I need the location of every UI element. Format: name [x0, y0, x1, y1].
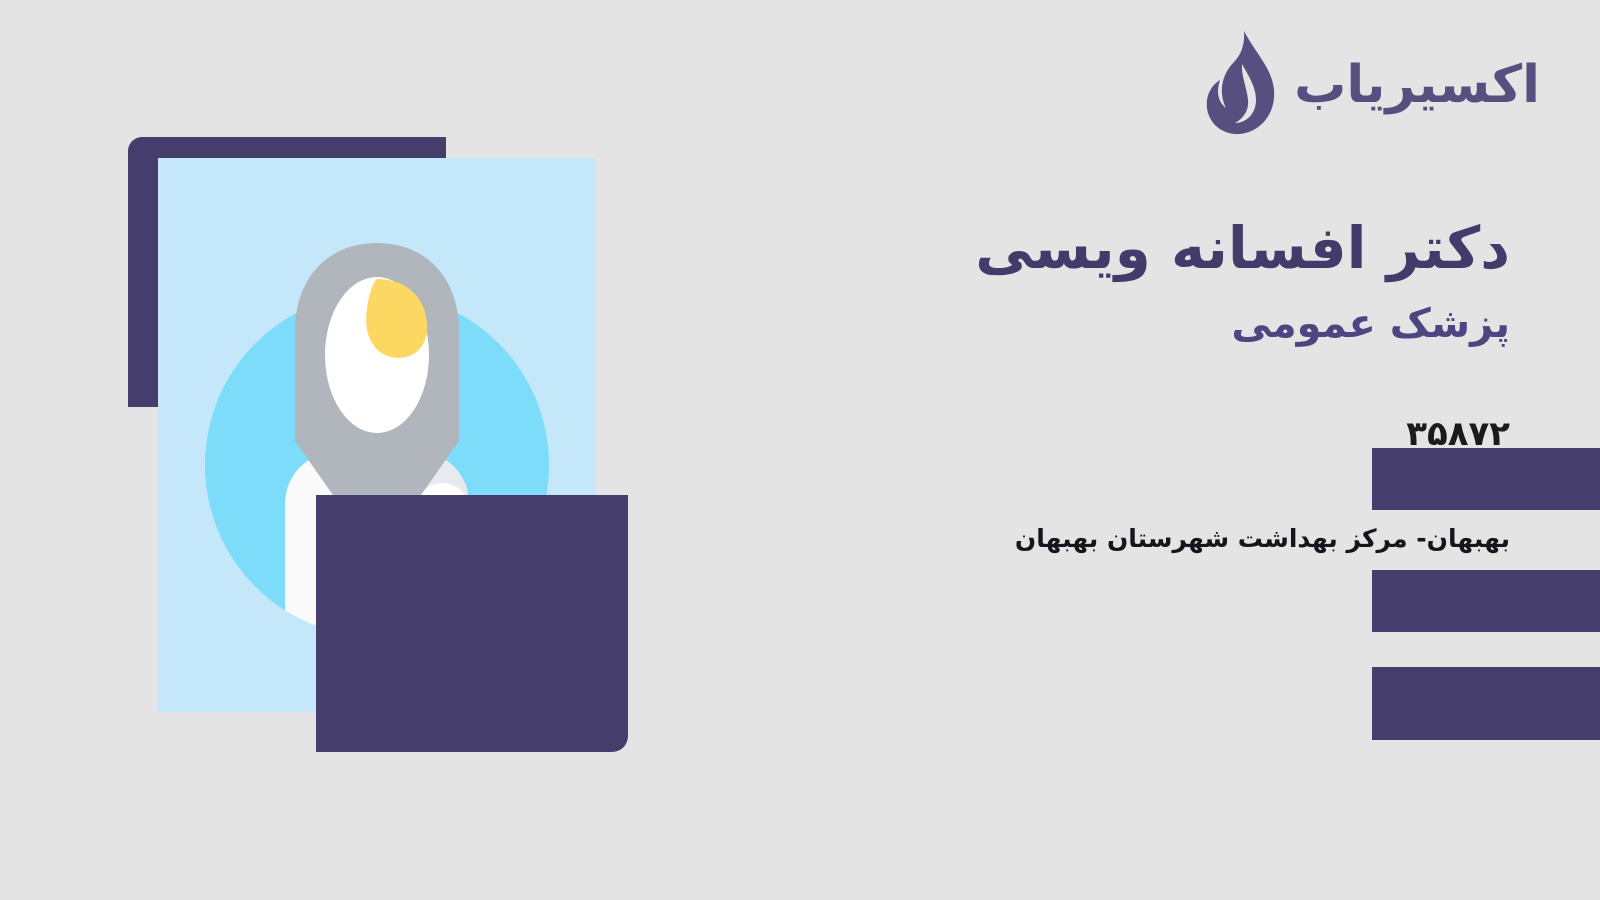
accent-rect-front [316, 495, 628, 752]
flame-drop-icon [1194, 28, 1280, 138]
accent-bar-3 [1372, 667, 1600, 740]
brand-wordmark: اکسیریاب [1294, 59, 1540, 111]
doctor-profile-card: اکسیریاب دکتر افسانه ویسی پزشک عمومی ۳۵۸… [0, 0, 1600, 900]
accent-bar-2 [1372, 570, 1600, 632]
doctor-name: دکتر افسانه ویسی [750, 214, 1510, 282]
doctor-illustration [128, 137, 628, 752]
doctor-specialty: پزشک عمومی [750, 300, 1510, 348]
accent-bar-1 [1372, 448, 1600, 510]
brand-logo[interactable]: اکسیریاب [1194, 28, 1540, 138]
doctor-address: بهبهان- مرکز بهداشت شهرستان بهبهان [750, 523, 1510, 556]
